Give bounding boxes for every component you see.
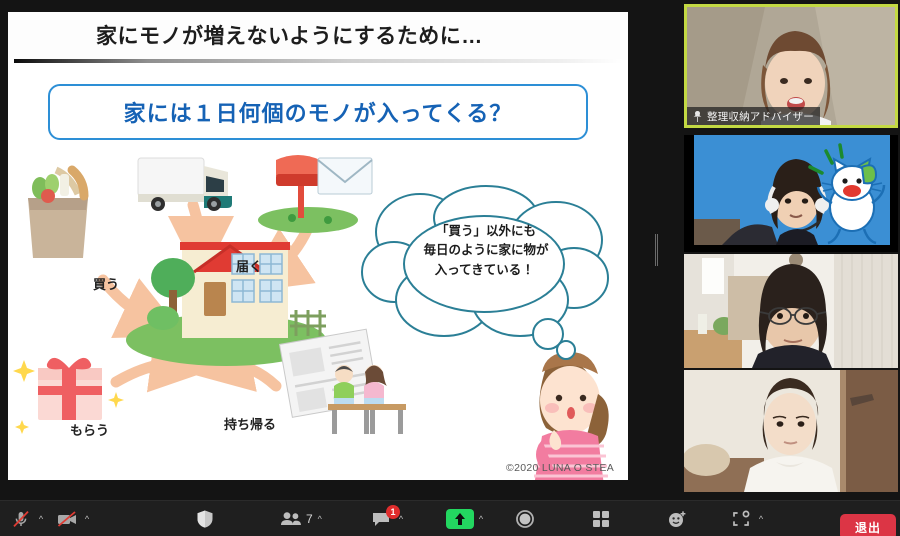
record-icon	[512, 506, 538, 532]
video-tile-4[interactable]	[684, 370, 898, 492]
slide-title: 家にモノが増えないようにするために…	[96, 20, 483, 50]
microphone-muted-icon	[8, 506, 34, 532]
video-filmstrip: 整理収納アドバイザー	[684, 4, 898, 496]
delivery-truck-icon	[138, 158, 232, 211]
school-kids-icon	[328, 365, 406, 434]
participants-icon	[278, 506, 304, 532]
diagram-label-deliver: 届く	[236, 256, 262, 275]
video-feed-3	[684, 254, 898, 368]
zoom-meeting-window: 家にモノが増えないようにするために… 家には１日何個のモノが入ってくる？	[0, 0, 900, 536]
participant-name-bar-1: 整理収納アドバイザー	[687, 107, 820, 125]
chat-unread-badge: 1	[386, 505, 400, 519]
thought-bubble-text: 「買う」以外にも 毎日のように家に物が 入ってきている ！	[360, 222, 612, 280]
meeting-toolbar: ^ ^	[0, 500, 900, 536]
video-options-caret[interactable]: ^	[80, 501, 94, 536]
share-options-caret[interactable]: ^	[474, 501, 488, 536]
video-feed-2	[684, 135, 898, 252]
share-screen-button[interactable]: ^	[446, 501, 488, 536]
leave-meeting-button[interactable]: 退出	[840, 514, 896, 536]
participant-name-1: 整理収納アドバイザー	[707, 109, 814, 124]
smiley-plus-icon	[664, 506, 690, 532]
video-tile-2[interactable]	[684, 135, 898, 252]
video-tile-1[interactable]: 整理収納アドバイザー	[684, 4, 898, 128]
chat-icon: 1	[368, 506, 394, 532]
thought-bubble: 「買う」以外にも 毎日のように家に物が 入ってきている ！	[360, 184, 612, 354]
participants-button[interactable]: 7 ^	[278, 501, 327, 536]
thinking-woman-icon	[534, 352, 609, 480]
video-button[interactable]: ^	[54, 501, 94, 536]
slide-copyright: ©2020 LUNA O STEA	[506, 462, 614, 474]
grocery-bag-icon	[28, 170, 88, 258]
question-text: 家には１日何個のモノが入ってくる？	[124, 96, 513, 128]
slide-title-bar: 家にモノが増えないようにするために…	[8, 12, 628, 60]
mute-button[interactable]: ^	[8, 501, 48, 536]
grid-squares-icon	[588, 506, 614, 532]
breakout-rooms-button[interactable]	[588, 501, 614, 536]
shield-icon	[192, 506, 218, 532]
reactions-button[interactable]	[664, 501, 690, 536]
presentation-slide[interactable]: 家にモノが増えないようにするために… 家には１日何個のモノが入ってくる？	[8, 12, 628, 480]
apps-button[interactable]: ^	[728, 501, 768, 536]
chat-button[interactable]: 1 ^	[368, 501, 408, 536]
participants-options-caret[interactable]: ^	[313, 501, 327, 536]
bracket-frame-icon	[728, 506, 754, 532]
record-button[interactable]	[512, 501, 538, 536]
camera-stopped-icon	[54, 506, 80, 532]
panel-resize-handle[interactable]	[655, 234, 659, 266]
apps-options-caret[interactable]: ^	[754, 501, 768, 536]
security-button[interactable]	[192, 501, 218, 536]
mute-options-caret[interactable]: ^	[34, 501, 48, 536]
video-tile-3[interactable]	[684, 254, 898, 368]
diagram-label-bring: 持ち帰る	[224, 414, 276, 433]
video-feed-4	[684, 370, 898, 492]
shared-screen-area[interactable]: 家にモノが増えないようにするために… 家には１日何個のモノが入ってくる？	[0, 0, 660, 500]
diagram-label-receive: もらう	[70, 420, 109, 439]
diagram-label-buy: 買う	[93, 274, 119, 293]
participants-count: 7	[306, 512, 313, 526]
share-screen-icon	[446, 509, 474, 529]
pin-icon	[693, 111, 702, 122]
slide-title-divider	[14, 59, 622, 63]
question-callout-box: 家には１日何個のモノが入ってくる？	[48, 84, 588, 140]
